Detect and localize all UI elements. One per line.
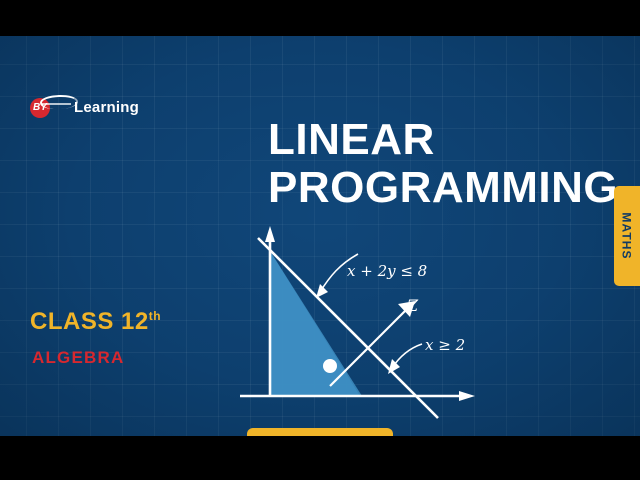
objective-arrow-line bbox=[330, 308, 408, 386]
class-label-superscript: th bbox=[149, 309, 161, 323]
video-thumbnail-frame: BY Learning LINEAR PROGRAMMING CLASS 12t… bbox=[0, 0, 640, 480]
x-axis-arrowhead bbox=[459, 391, 475, 401]
brand-logo: BY Learning bbox=[30, 94, 139, 120]
callout-arrow-constraint-2 bbox=[388, 359, 400, 374]
y-axis-arrowhead bbox=[265, 226, 275, 242]
logo-swoosh-line-icon bbox=[43, 103, 71, 105]
logo-wordmark: Learning bbox=[74, 99, 139, 116]
constraint-1-label: x + 2y ≤ 8 bbox=[347, 262, 427, 280]
diagram-container: x + 2y ≤ 8 Z x ≥ 2 bbox=[210, 196, 510, 436]
letterbox-bottom bbox=[0, 436, 640, 480]
logo-swoosh-icon bbox=[40, 94, 78, 109]
subject-side-tab: MATHS bbox=[614, 186, 640, 286]
title-line-1: LINEAR bbox=[268, 115, 435, 164]
class-label-text: CLASS 12 bbox=[30, 308, 149, 335]
constraint-2-label: x ≥ 2 bbox=[425, 336, 465, 354]
letterbox-top bbox=[0, 0, 640, 36]
objective-label: Z bbox=[407, 296, 418, 315]
subject-side-tab-label: MATHS bbox=[620, 212, 634, 259]
logo-icon: BY bbox=[30, 94, 56, 120]
slide-stage: BY Learning LINEAR PROGRAMMING CLASS 12t… bbox=[0, 36, 640, 436]
lecture-badge: Lecture - 24 bbox=[247, 428, 393, 436]
optimal-point-marker bbox=[323, 359, 337, 373]
callout-arrow-constraint-1 bbox=[316, 284, 328, 298]
diagram-svg bbox=[210, 196, 510, 436]
class-label: CLASS 12th bbox=[30, 308, 161, 336]
subject-label: ALGEBRA bbox=[32, 348, 124, 368]
